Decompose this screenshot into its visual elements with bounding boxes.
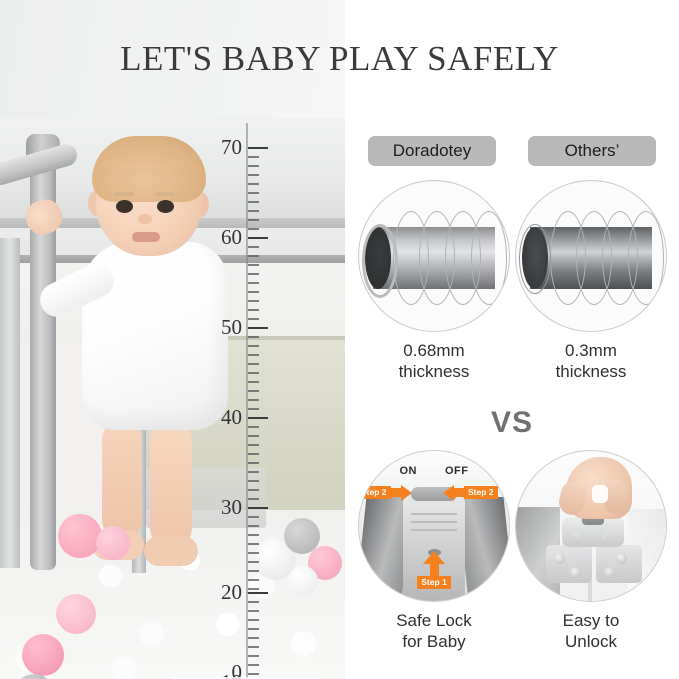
ruler-tick-minor [248, 588, 259, 590]
ruler-tick-minor [248, 444, 259, 446]
easy-unlock-rivet [616, 553, 627, 564]
ruler-label: 40 [208, 405, 242, 430]
ruler-tick-minor [248, 579, 259, 581]
ruler-tick-minor [248, 219, 259, 221]
easy-unlock-plate-left [546, 545, 592, 583]
ruler-tick-minor [248, 534, 259, 536]
step2-left-arrow: Step 2 [358, 485, 412, 500]
ruler-tick-major [248, 417, 268, 419]
growth-ruler: 70 60 50 [208, 123, 268, 593]
ruler-tick-minor [248, 637, 259, 639]
play-ball [96, 526, 130, 560]
baby-leg-right [150, 420, 192, 548]
playpen-post-far-left [0, 238, 20, 568]
baby-hair [92, 136, 206, 202]
easy-unlock-circle [515, 450, 667, 602]
ruler-tick-minor [248, 318, 259, 320]
ruler-tick-minor [248, 435, 259, 437]
ruler-tick-minor [248, 201, 259, 203]
vs-label: VS [345, 406, 679, 440]
baby-playpen-photo: 70 60 50 [0, 118, 345, 679]
thickness-others-unit: thickness [515, 361, 667, 382]
ruler-tick-minor [248, 664, 259, 666]
easy-unlock-rivet [604, 567, 615, 578]
ruler-tick-minor [248, 210, 259, 212]
off-label: OFF [445, 465, 469, 477]
easy-unlock-plate-right [596, 545, 642, 583]
ruler-tick-major [248, 507, 268, 509]
safe-lock-groove [411, 513, 457, 515]
tube-others-wall [519, 224, 551, 294]
step1-bar [430, 564, 439, 576]
ruler-tick-minor [248, 601, 259, 603]
step2-right-arrowhead [443, 485, 454, 501]
comparison-panel: Doradotey Others’ [345, 118, 679, 679]
tube-brand [358, 180, 510, 332]
ruler-tick-minor [248, 399, 259, 401]
brand-badges: Doradotey Others’ [345, 136, 679, 168]
easy-unlock-label-line2: Unlock [515, 631, 667, 652]
ruler-tick-minor [248, 480, 259, 482]
badge-doradotey: Doradotey [368, 136, 496, 166]
play-ball [58, 514, 102, 558]
lock-state-labels: ON OFF [359, 465, 509, 477]
ruler-tick-minor [248, 628, 259, 630]
ruler-tick-minor [248, 372, 259, 374]
ruler-tick-minor [248, 381, 259, 383]
baby-eye-left [116, 200, 133, 213]
ruler-tick-minor [248, 552, 259, 554]
ruler-tick-major [248, 327, 268, 329]
ruler-tick-minor [248, 183, 259, 185]
ruler-tick-minor [248, 363, 259, 365]
ruler-tick-major [248, 592, 268, 594]
ruler-tick-minor [248, 561, 259, 563]
step2-right-arrow: Step 2 [443, 485, 498, 500]
ruler-tick-minor [248, 619, 259, 621]
play-ball [288, 566, 318, 596]
easy-unlock-post [588, 581, 592, 601]
safe-lock-groove [411, 521, 457, 523]
step2-left-arrowhead [401, 485, 412, 501]
safe-lock-label: Safe Lock for Baby [358, 610, 510, 653]
baby-eye-right [157, 200, 174, 213]
ruler-label: 60 [208, 225, 242, 250]
safe-lock-label-line1: Safe Lock [358, 610, 510, 631]
ruler-tick-minor [248, 246, 259, 248]
easy-unlock-rivet [570, 567, 581, 578]
ruler-tick-minor [248, 354, 259, 356]
ruler-tick-minor [248, 264, 259, 266]
ruler-tick-minor [248, 165, 259, 167]
ruler-tick-minor [248, 516, 259, 518]
step1-arrowhead [423, 551, 445, 564]
baby-brow-left [114, 192, 134, 196]
ruler-tick-minor [248, 498, 259, 500]
step2-right-label: Step 2 [464, 486, 498, 499]
page-title: LET'S BABY PLAY SAFELY [0, 0, 679, 118]
hand-knuckle-highlight [592, 485, 608, 503]
thickness-label-others: 0.3mm thickness [515, 340, 667, 383]
easy-unlock-arrow-left-icon [570, 527, 580, 539]
step1-arrow: Step 1 [419, 551, 449, 589]
ruler-tick-minor [248, 192, 259, 194]
ruler-tick-minor [248, 291, 259, 293]
easy-unlock-rivet [554, 553, 565, 564]
header: LET'S BABY PLAY SAFELY [0, 0, 679, 118]
ruler-tick-minor [248, 453, 259, 455]
ruler-label: 70 [208, 135, 242, 160]
easy-unlock-label-line1: Easy to [515, 610, 667, 631]
baby-foot-right [144, 536, 198, 566]
ruler-tick-minor [248, 426, 259, 428]
ruler-tick-minor [248, 255, 259, 257]
infographic-page: LET'S BABY PLAY SAFELY [0, 0, 679, 679]
step2-left-bar [391, 488, 401, 497]
coil-ring [628, 211, 664, 305]
play-ball [22, 634, 64, 676]
thickness-brand-value: 0.68mm [358, 340, 510, 361]
ruler-tick-minor [248, 273, 259, 275]
safe-lock-illustration: ON OFF Step 2 Step 2 Step 1 [358, 450, 510, 602]
ruler-tick-minor [248, 300, 259, 302]
safe-lock-label-line2: for Baby [358, 631, 510, 652]
baby-leg-left [102, 420, 142, 540]
ruler-tick-minor [248, 570, 259, 572]
thickness-others-value: 0.3mm [515, 340, 667, 361]
thickness-brand-unit: thickness [358, 361, 510, 382]
ruler-tick-minor [248, 646, 259, 648]
ruler-tick-minor [248, 673, 259, 675]
ruler-label: 50 [208, 315, 242, 340]
ruler-tick-minor [248, 655, 259, 657]
ruler-tick-minor [248, 525, 259, 527]
ruler-tick-minor [248, 345, 259, 347]
ruler-tick-minor [248, 228, 259, 230]
easy-unlock-illustration [515, 450, 667, 602]
ruler-tick-minor [248, 282, 259, 284]
ruler-tick-major [248, 237, 268, 239]
baby-brow-right [155, 192, 175, 196]
safe-lock-groove [411, 529, 457, 531]
tube-others-circle [515, 180, 667, 332]
tube-others [515, 180, 667, 332]
ruler-tick-minor [248, 543, 259, 545]
ruler-tick-minor [248, 610, 259, 612]
step2-left-label: Step 2 [358, 486, 391, 499]
ruler-tick-minor [248, 462, 259, 464]
thickness-label-brand: 0.68mm thickness [358, 340, 510, 383]
baby-mouth [132, 232, 160, 242]
badge-others: Others’ [528, 136, 656, 166]
tube-brand-circle [358, 180, 510, 332]
safe-lock-circle: ON OFF Step 2 Step 2 Step 1 [358, 450, 510, 602]
step2-right-bar [454, 488, 464, 497]
ruler-label: 30 [208, 495, 242, 520]
tube-brand-wall [362, 224, 398, 298]
ruler-tick-minor [248, 390, 259, 392]
ruler-tick-minor [248, 174, 259, 176]
step1-label: Step 1 [417, 576, 451, 589]
play-ball [56, 594, 96, 634]
ruler-tick-minor [248, 309, 259, 311]
easy-unlock-label: Easy to Unlock [515, 610, 667, 653]
ruler-tick-minor [248, 156, 259, 158]
ruler-tick-major [248, 147, 268, 149]
easy-unlock-arrow-right-icon [602, 527, 612, 539]
coil-ring [471, 211, 507, 305]
ruler-tick-minor [248, 489, 259, 491]
ruler-label: 20 [208, 580, 242, 605]
ruler-tick-minor [248, 336, 259, 338]
baby-nose [138, 214, 152, 224]
on-label: ON [400, 465, 418, 477]
ruler-tick-minor [248, 471, 259, 473]
ruler-tick-minor [248, 408, 259, 410]
